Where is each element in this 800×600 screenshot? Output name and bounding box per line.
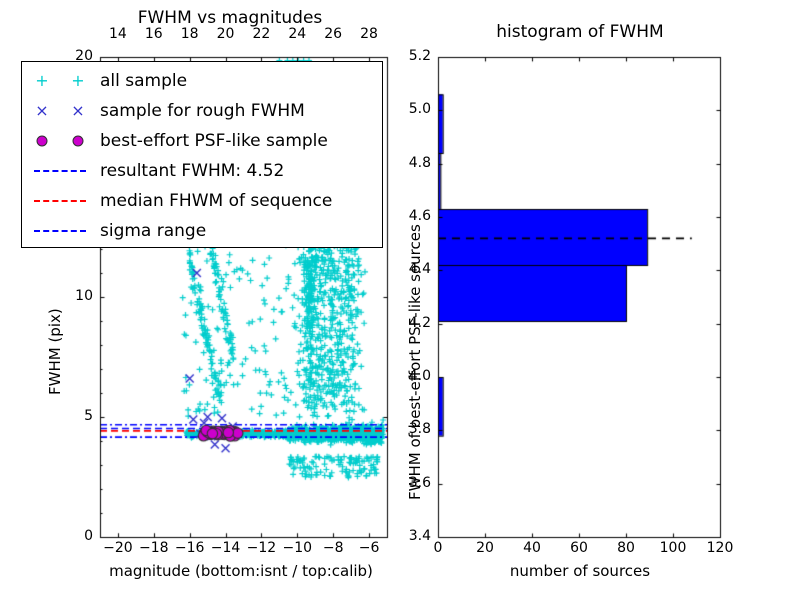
- legend-symbol-cross-marker: ××: [22, 96, 100, 126]
- dash-dot-line: [34, 230, 86, 232]
- histogram-title: histogram of FWHM: [440, 22, 720, 42]
- scatter-title: FWHM vs magnitudes: [80, 8, 380, 28]
- plus-marker: +: [71, 73, 84, 89]
- hist-ytick-5: 4.4: [375, 261, 431, 277]
- legend-symbol-filled-circle-marker: [22, 126, 100, 156]
- scatter-ytick-0: 0: [37, 528, 93, 544]
- legend-symbol-dashed-line: [22, 156, 100, 186]
- legend-item-4[interactable]: median FHWM of sequence: [22, 186, 382, 216]
- scatter-ytick-1: 5: [37, 408, 93, 424]
- hist-ytick-7: 4.8: [375, 155, 431, 171]
- legend-symbol-dashed-line: [22, 186, 100, 216]
- hist-ytick-3: 4.0: [375, 368, 431, 384]
- hist-ytick-1: 3.6: [375, 475, 431, 491]
- legend-symbol-dash-dot-line: [22, 216, 100, 246]
- scatter-xlabel: magnitude (bottom:isnt / top:calib): [96, 562, 386, 580]
- plus-marker: +: [35, 73, 48, 89]
- hist-ytick-4: 4.2: [375, 315, 431, 331]
- hist-ytick-6: 4.6: [375, 208, 431, 224]
- hist-xtick-6: 120: [690, 540, 750, 556]
- legend-label: best-effort PSF-like sample: [100, 133, 328, 150]
- legend-item-3[interactable]: resultant FWHM: 4.52: [22, 156, 382, 186]
- legend-label: all sample: [100, 73, 187, 90]
- cross-marker: ×: [71, 103, 84, 119]
- filled-circle-marker: [73, 136, 84, 147]
- scatter-ylabel: FWHM (pix): [46, 308, 64, 395]
- legend-label: sample for rough FWHM: [100, 103, 305, 120]
- hist-ytick-0: 3.4: [375, 528, 431, 544]
- filled-circle-marker: [37, 136, 48, 147]
- dashed-line: [34, 170, 86, 172]
- hist-ytick-9: 5.2: [375, 48, 431, 64]
- cross-marker: ×: [35, 103, 48, 119]
- legend-symbol-plus-marker: ++: [22, 66, 100, 96]
- histogram-xlabel: number of sources: [460, 562, 700, 580]
- scatter-ytick-2: 10: [37, 288, 93, 304]
- legend: ++all sample××sample for rough FWHMbest-…: [21, 61, 383, 248]
- legend-item-2[interactable]: best-effort PSF-like sample: [22, 126, 382, 156]
- scatter-toptick-7: 28: [339, 26, 399, 42]
- legend-label: resultant FWHM: 4.52: [100, 163, 284, 180]
- legend-label: sigma range: [100, 223, 206, 240]
- legend-label: median FHWM of sequence: [100, 193, 332, 210]
- legend-item-1[interactable]: ××sample for rough FWHM: [22, 96, 382, 126]
- figure-root: FWHM vs magnitudes magnitude (bottom:isn…: [0, 0, 800, 600]
- legend-item-5[interactable]: sigma range: [22, 216, 382, 246]
- hist-ytick-2: 3.8: [375, 421, 431, 437]
- dashed-line: [34, 200, 86, 202]
- legend-item-0[interactable]: ++all sample: [22, 66, 382, 96]
- hist-ytick-8: 5.0: [375, 101, 431, 117]
